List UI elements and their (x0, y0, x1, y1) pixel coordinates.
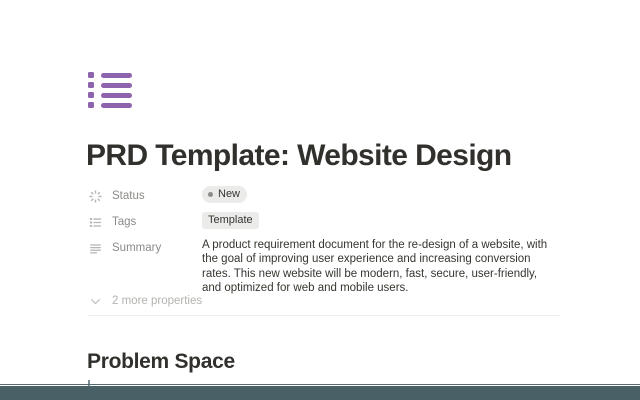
list-icon-row (88, 72, 132, 78)
property-value-summary[interactable]: A product requirement document for the r… (202, 235, 560, 296)
property-name-status: Status (112, 183, 145, 209)
text-lines-icon (88, 241, 103, 256)
more-properties-label: 2 more properties (112, 295, 202, 307)
list-icon-bar (101, 73, 132, 78)
bottom-rule (0, 384, 640, 385)
list-icon-bullet (88, 72, 94, 78)
property-label-summary[interactable]: Summary (88, 235, 202, 261)
list-icon-bullet (88, 82, 94, 88)
page-root: PRD Template: Website Design (0, 0, 640, 400)
list-icon-row (88, 92, 132, 98)
property-row-status: Status New (88, 183, 560, 209)
status-badge[interactable]: New (202, 186, 247, 203)
properties-panel: Status New (88, 183, 560, 296)
section-heading-problem-space[interactable]: Problem Space (87, 348, 235, 376)
property-label-status[interactable]: Status (88, 183, 202, 209)
list-icon-bar (101, 83, 132, 88)
list-icon-bullet (88, 102, 94, 108)
summary-text: A product requirement document for the r… (202, 238, 558, 296)
list-icon-bar (101, 103, 132, 108)
property-name-summary: Summary (112, 235, 161, 261)
property-row-summary: Summary A product requirement document f… (88, 235, 560, 296)
property-label-tags[interactable]: Tags (88, 209, 202, 235)
bottom-bar (0, 386, 640, 400)
list-icon-bar (101, 93, 132, 98)
property-name-tags: Tags (112, 209, 136, 235)
tag-chip[interactable]: Template (202, 212, 259, 229)
list-icon-bullet (88, 92, 94, 98)
list-icon-row (88, 82, 132, 88)
list-icon (88, 215, 103, 230)
chevron-down-icon (88, 294, 103, 309)
status-dot-icon (208, 192, 213, 197)
status-badge-label: New (218, 186, 240, 203)
properties-divider (88, 315, 560, 316)
more-properties-toggle[interactable]: 2 more properties (88, 292, 202, 310)
property-value-status[interactable]: New (202, 183, 560, 203)
status-spinner-icon (88, 189, 103, 204)
property-row-tags: Tags Template (88, 209, 560, 235)
page-title[interactable]: PRD Template: Website Design (86, 137, 512, 175)
list-icon-row (88, 102, 132, 108)
property-value-tags[interactable]: Template (202, 209, 560, 229)
bulleted-list-icon[interactable] (88, 72, 132, 112)
